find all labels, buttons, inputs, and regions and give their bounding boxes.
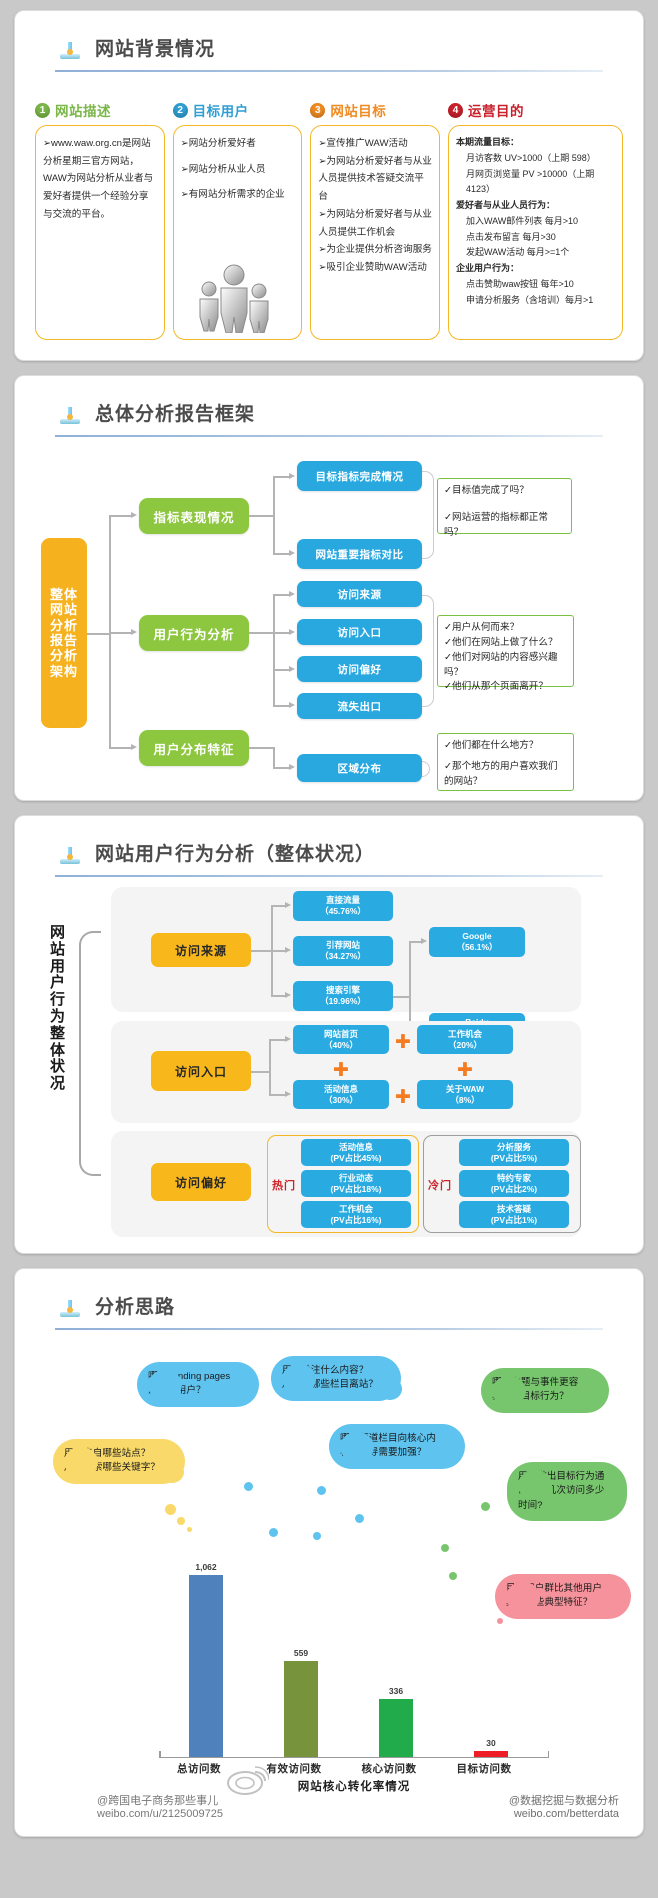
thought-cloud-visits: 用户做出目标行为通 常需要几次访问多少 时间? bbox=[507, 1462, 627, 1521]
leaf-node: 访问入口 bbox=[297, 619, 422, 645]
header-divider bbox=[55, 70, 603, 72]
connector bbox=[271, 950, 285, 952]
group-title-preferences: 访问偏好 bbox=[151, 1163, 251, 1201]
page-title: 分析思路 bbox=[95, 1298, 175, 1317]
x-axis bbox=[159, 1757, 549, 1759]
group-line: 加入WAW邮件列表 每月>10 bbox=[456, 214, 615, 230]
connector bbox=[273, 705, 289, 707]
bullet: ➢为网站分析爱好者与从业人员提供技术答疑交流平台 bbox=[318, 153, 432, 206]
arrow-icon bbox=[289, 473, 295, 479]
background-column-2: 2 目标用户 ➢网站分析爱好者 ➢网站分析从业人员 ➢有网站分析需求的企业 bbox=[173, 100, 303, 340]
group-title-sources: 访问来源 bbox=[151, 933, 251, 967]
column-body-2: ➢网站分析爱好者 ➢网站分析从业人员 ➢有网站分析需求的企业 bbox=[173, 125, 303, 340]
connector bbox=[271, 995, 285, 997]
node-about-waw: 关于WAW （8%） bbox=[417, 1080, 513, 1109]
bar-total: 1,062 bbox=[189, 1575, 223, 1757]
bullet: ➢有网站分析需求的企业 bbox=[181, 186, 295, 204]
node-direct-traffic: 直接流量 （45.76%） bbox=[293, 891, 393, 921]
panel-header: 网站背景情况 bbox=[29, 21, 629, 63]
bar-category-core: 核心访问数 bbox=[347, 1761, 431, 1776]
plus-icon: ✚ bbox=[457, 1061, 473, 1080]
page-title: 总体分析报告框架 bbox=[95, 405, 255, 424]
group-line: 点击发布留言 每月>30 bbox=[456, 230, 615, 246]
connector bbox=[271, 905, 285, 907]
connector bbox=[249, 515, 273, 517]
node-referral: 引荐网站 （34.27%） bbox=[293, 936, 393, 966]
people-icon bbox=[192, 255, 282, 333]
bar-effective: 559 bbox=[284, 1661, 318, 1757]
root-node: 整体 网站 分析 报告 分析 架构 bbox=[41, 538, 87, 728]
brace bbox=[422, 471, 434, 559]
header-divider bbox=[55, 875, 603, 877]
column-header: 2 目标用户 bbox=[173, 100, 303, 120]
bullet: ➢为企业提供分析咨询服务 bbox=[318, 241, 432, 259]
funnel-icon bbox=[55, 392, 85, 426]
thought-cloud-topics: 哪些主题与事件更容 易引发目标行为？ bbox=[481, 1368, 609, 1413]
arrow-icon bbox=[131, 512, 137, 518]
connector bbox=[251, 1071, 269, 1073]
connector bbox=[273, 476, 289, 478]
plus-icon: ✚ bbox=[333, 1061, 349, 1080]
column-body-4: 本期流量目标： 月访客数 UV>1000（上期 598） 月网页浏览量 PV >… bbox=[448, 125, 623, 340]
bullet: ➢吸引企业赞助WAW活动 bbox=[318, 259, 432, 277]
group-title-entries: 访问入口 bbox=[151, 1051, 251, 1091]
connector bbox=[269, 1039, 271, 1095]
group-brace bbox=[79, 931, 101, 1176]
cloud-tail bbox=[313, 1532, 321, 1540]
ideas-diagram: 哪些Landing pages 流失了用户？ 用户关注什么内容？ 用户从哪些栏目… bbox=[29, 1334, 629, 1824]
axis-tick-right bbox=[548, 1751, 550, 1758]
node-cold-2: 特约专家 (PV占比2%) bbox=[459, 1170, 569, 1197]
funnel-icon bbox=[55, 1285, 85, 1319]
cloud-tail bbox=[244, 1482, 253, 1491]
bar-goal: 30 bbox=[474, 1751, 508, 1757]
thought-cloud-landing: 哪些Landing pages 流失了用户？ bbox=[137, 1362, 259, 1407]
thought-cloud-channels: 哪些频道栏目向核心内 容的引导需要加强？ bbox=[329, 1424, 465, 1469]
leaf-node: 区域分布 bbox=[297, 754, 422, 782]
arrow-icon bbox=[285, 947, 291, 953]
badge-number-2: 2 bbox=[173, 103, 188, 118]
thought-cloud-sources: 用户来自哪些站点？ 用户搜索哪些关键字？ bbox=[53, 1439, 185, 1484]
group-heading: 企业用户行为： bbox=[456, 261, 615, 277]
column-label-3: 网站目标 bbox=[330, 100, 386, 120]
behavior-diagram: 网 站 用 户 行 为 整 体 状 况 访问来源 bbox=[29, 883, 629, 1241]
arrow-icon bbox=[285, 1091, 291, 1097]
axis-tick-left bbox=[159, 1751, 161, 1758]
cloud-tail bbox=[355, 1514, 364, 1523]
column-body-3: ➢宣传推广WAW活动 ➢为网站分析爱好者与从业人员提供技术答疑交流平台 ➢为网站… bbox=[310, 125, 440, 340]
panel-header: 网站用户行为分析（整体状况） bbox=[29, 826, 629, 868]
node-hot-3: 工作机会 (PV占比16%) bbox=[301, 1201, 411, 1228]
panel-analysis-ideas: 分析思路 哪些Landing pages 流失了用户？ 用户关注什么内容？ 用户… bbox=[14, 1268, 644, 1837]
cloud-tail bbox=[177, 1517, 185, 1525]
bar-category-goal: 目标访问数 bbox=[442, 1761, 526, 1776]
weibo-logo-icon bbox=[225, 1766, 269, 1796]
node-cold-3: 技术答疑 (PV占比1%) bbox=[459, 1201, 569, 1228]
group-line: 申请分析服务（含培训）每月>1 bbox=[456, 293, 615, 309]
bullet: ➢网站分析爱好者 bbox=[181, 135, 295, 153]
branch-node-1: 指标表现情况 bbox=[139, 498, 249, 534]
connector bbox=[393, 996, 409, 998]
column-label-1: 网站描述 bbox=[55, 100, 111, 120]
connector bbox=[273, 594, 289, 596]
leaf-node: 访问偏好 bbox=[297, 656, 422, 682]
node-hot-2: 行业动态 (PV占比18%) bbox=[301, 1170, 411, 1197]
group-line: 月网页浏览量 PV >10000（上期 4123） bbox=[456, 167, 615, 199]
question-box-1: ✓目标值完成了吗？ ✓网站运营的指标都正常吗？ bbox=[437, 478, 572, 534]
column-label-4: 运营目的 bbox=[468, 100, 524, 120]
connector bbox=[273, 747, 275, 769]
branch-node-2: 用户行为分析 bbox=[139, 615, 249, 651]
arrow-icon bbox=[289, 550, 295, 556]
connector bbox=[409, 941, 421, 943]
badge-number-3: 3 bbox=[310, 103, 325, 118]
column-body-1: ➢www.waw.org.cn是网站分析星期三官方网站，WAW为网站分析从业者与… bbox=[35, 125, 165, 340]
arrow-icon bbox=[289, 764, 295, 770]
node-search-engine: 搜索引擎 （19.96%） bbox=[293, 981, 393, 1011]
header-divider bbox=[55, 1328, 603, 1330]
arrow-icon bbox=[131, 744, 137, 750]
cold-label: 冷门 bbox=[428, 1177, 452, 1193]
cloud-tail bbox=[481, 1502, 490, 1511]
conversion-bar-chart: 1,062 总访问数 559 有效访问数 336 核心访问数 30 目标访问数 … bbox=[159, 1540, 549, 1780]
node-activity-info: 活动信息 （30%） bbox=[293, 1080, 389, 1109]
node-homepage: 网站首页 （40%） bbox=[293, 1025, 389, 1054]
arrow-icon bbox=[285, 992, 291, 998]
group-line: 月访客数 UV>1000（上期 598） bbox=[456, 151, 615, 167]
arrow-icon bbox=[285, 1036, 291, 1042]
leaf-node: 目标指标完成情况 bbox=[297, 461, 422, 491]
bar-core: 336 bbox=[379, 1699, 413, 1757]
hot-label: 热门 bbox=[272, 1177, 296, 1193]
connector bbox=[273, 632, 289, 634]
background-columns: 1 网站描述 ➢www.waw.org.cn是网站分析星期三官方网站，WAW为网… bbox=[35, 100, 623, 340]
bullet: ➢网站分析从业人员 bbox=[181, 161, 295, 179]
infographic-page: 网站背景情况 1 网站描述 ➢www.waw.org.cn是网站分析星期三官方网… bbox=[0, 0, 658, 1837]
connector bbox=[273, 594, 275, 706]
leaf-node: 访问来源 bbox=[297, 581, 422, 607]
panel-analysis-framework: 总体分析报告框架 整体 网站 分析 报告 分析 架构 指标表现情况 bbox=[14, 375, 644, 801]
panel-website-background: 网站背景情况 1 网站描述 ➢www.waw.org.cn是网站分析星期三官方网… bbox=[14, 10, 644, 361]
panel-user-behavior: 网站用户行为分析（整体状况） 网 站 用 户 行 为 整 体 状 况 访问来源 bbox=[14, 815, 644, 1254]
connector bbox=[409, 941, 411, 1029]
connector bbox=[273, 476, 275, 554]
connector bbox=[249, 632, 273, 634]
column-header: 1 网站描述 bbox=[35, 100, 165, 120]
bullet: ➢www.waw.org.cn是网站分析星期三官方网站，WAW为网站分析从业者与… bbox=[43, 135, 157, 224]
plus-icon: ✚ bbox=[395, 1033, 411, 1052]
arrow-icon bbox=[421, 938, 427, 944]
brace bbox=[422, 595, 434, 707]
connector bbox=[109, 632, 131, 634]
bullet: ➢宣传推广WAW活动 bbox=[318, 135, 432, 153]
node-jobs: 工作机会 （20%） bbox=[417, 1025, 513, 1054]
group-line: 点击赞助waw按钮 每年>10 bbox=[456, 277, 615, 293]
background-column-4: 4 运营目的 本期流量目标： 月访客数 UV>1000（上期 598） 月网页浏… bbox=[448, 100, 623, 340]
watermark-right: @数据挖掘与数据分析 weibo.com/betterdata bbox=[509, 1792, 619, 1820]
badge-number-1: 1 bbox=[35, 103, 50, 118]
thought-cloud-content: 用户关注什么内容？ 用户从哪些栏目离站？ bbox=[271, 1356, 401, 1401]
node-cold-1: 分析服务 (PV占比5%) bbox=[459, 1139, 569, 1166]
connector bbox=[109, 747, 131, 749]
connector bbox=[269, 1094, 285, 1096]
arrow-icon bbox=[289, 629, 295, 635]
connector bbox=[87, 633, 109, 635]
arrow-icon bbox=[289, 666, 295, 672]
leaf-node: 流失出口 bbox=[297, 693, 422, 719]
funnel-icon bbox=[55, 27, 85, 61]
header-divider bbox=[55, 435, 603, 437]
connector bbox=[109, 515, 131, 517]
page-title: 网站背景情况 bbox=[95, 40, 215, 59]
cloud-tail bbox=[269, 1528, 278, 1537]
branch-node-3: 用户分布特征 bbox=[139, 730, 249, 766]
page-title: 网站用户行为分析（整体状况） bbox=[95, 845, 375, 864]
arrow-icon bbox=[289, 702, 295, 708]
brace bbox=[422, 761, 430, 777]
connector bbox=[273, 669, 289, 671]
arrow-icon bbox=[285, 902, 291, 908]
connector bbox=[249, 747, 273, 749]
arrow-icon bbox=[289, 591, 295, 597]
badge-number-4: 4 bbox=[448, 103, 463, 118]
column-header: 3 网站目标 bbox=[310, 100, 440, 120]
background-column-1: 1 网站描述 ➢www.waw.org.cn是网站分析星期三官方网站，WAW为网… bbox=[35, 100, 165, 340]
watermark-left: @跨国电子商务那些事儿 weibo.com/u/2125009725 bbox=[97, 1792, 223, 1820]
question-box-3: ✓他们都在什么地方？ ✓那个地方的用户喜欢我们的网站？ bbox=[437, 733, 574, 791]
group-heading: 爱好者与从业人员行为： bbox=[456, 198, 615, 214]
cloud-tail bbox=[187, 1527, 192, 1532]
leaf-node: 网站重要指标对比 bbox=[297, 539, 422, 569]
column-header: 4 运营目的 bbox=[448, 100, 623, 120]
node-hot-1: 活动信息 (PV占比45%) bbox=[301, 1139, 411, 1166]
connector bbox=[109, 515, 111, 747]
connector bbox=[251, 950, 271, 952]
framework-diagram: 整体 网站 分析 报告 分析 架构 指标表现情况 目标指标完成情况 bbox=[29, 443, 629, 788]
cloud-tail bbox=[317, 1486, 326, 1495]
behavior-vertical-label: 网 站 用 户 行 为 整 体 状 况 bbox=[45, 925, 71, 1093]
connector bbox=[273, 553, 289, 555]
connector bbox=[273, 767, 289, 769]
panel-header: 总体分析报告框架 bbox=[29, 386, 629, 428]
background-column-3: 3 网站目标 ➢宣传推广WAW活动 ➢为网站分析爱好者与从业人员提供技术答疑交流… bbox=[310, 100, 440, 340]
bullet: ➢为网站分析爱好者与从业人员提供工作机会 bbox=[318, 206, 432, 241]
plus-icon: ✚ bbox=[395, 1088, 411, 1107]
node-google: Google （56.1%） bbox=[429, 927, 525, 957]
funnel-icon bbox=[55, 832, 85, 866]
panel-header: 分析思路 bbox=[29, 1279, 629, 1321]
connector bbox=[269, 1039, 285, 1041]
question-box-2: ✓用户从何而来？ ✓他们在网站上做了什么？ ✓他们对网站的内容感兴趣吗？ ✓他们… bbox=[437, 615, 574, 687]
column-label-2: 目标用户 bbox=[193, 100, 249, 120]
cloud-tail bbox=[165, 1504, 176, 1515]
group-line: 发起WAW活动 每月>=1个 bbox=[456, 245, 615, 261]
group-heading: 本期流量目标： bbox=[456, 135, 615, 151]
arrow-icon bbox=[131, 629, 137, 635]
